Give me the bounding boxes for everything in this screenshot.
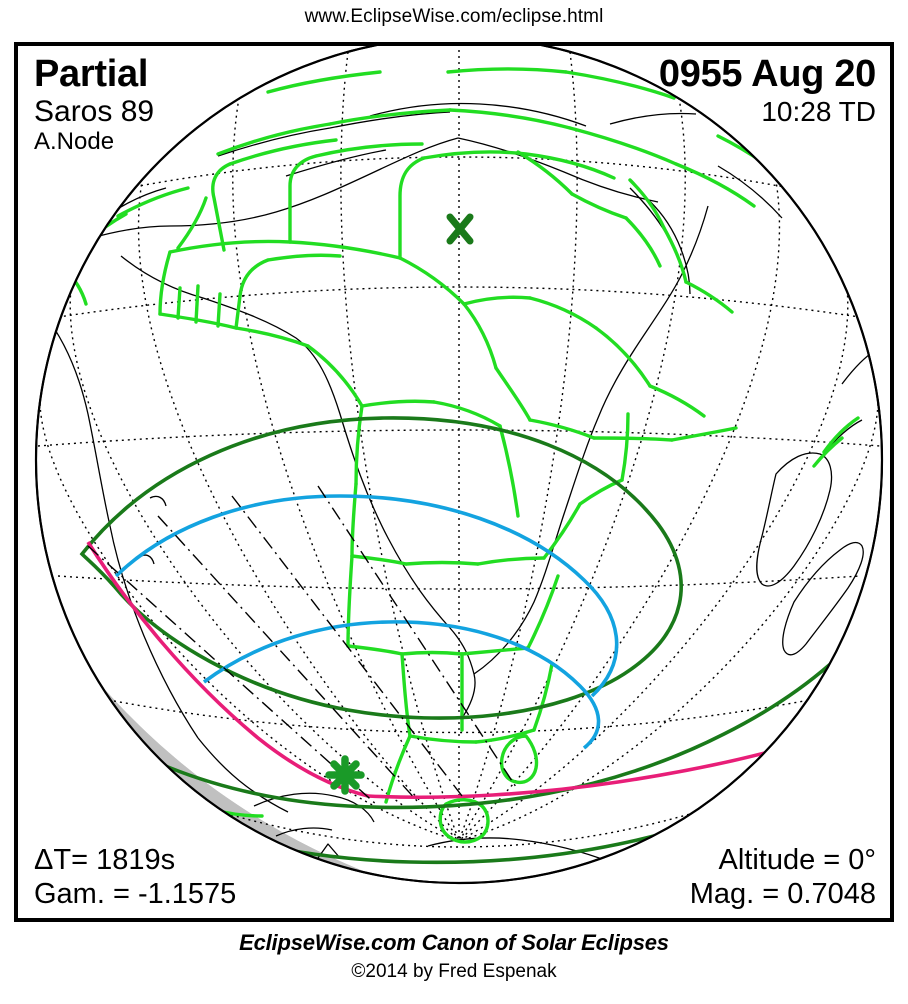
canon-title: EclipseWise.com Canon of Solar Eclipses [0,930,908,956]
delta-t-value: ΔT= 1819s [34,845,236,876]
saros-label: Saros 89 [34,96,154,128]
altitude-value: Altitude = 0° [690,845,876,876]
eclipse-type-label: Partial [34,54,154,95]
bottom-right-info: Altitude = 0° Mag. = 0.7048 [690,845,876,910]
bottom-left-info: ΔT= 1819s Gam. = -1.1575 [34,845,236,910]
node-label: A.Node [34,129,154,155]
eclipse-date-label: 0955 Aug 20 [659,54,876,95]
copyright-credit: ©2014 by Fred Espenak [0,961,908,983]
eclipse-time-label: 10:28 TD [659,97,876,127]
eclipse-map-frame: Partial Saros 89 A.Node 0955 Aug 20 10:2… [14,42,894,922]
top-right-info: 0955 Aug 20 10:28 TD [659,54,876,127]
magnitude-value: Mag. = 0.7048 [690,879,876,910]
eclipse-globe-map [18,46,890,918]
greatest-eclipse-asterisk-icon [329,759,361,791]
top-left-info: Partial Saros 89 A.Node [34,54,154,155]
gamma-value: Gam. = -1.1575 [34,879,236,910]
eclipse-figure-page: www.EclipseWise.com/eclipse.html [0,0,908,1004]
source-url: www.EclipseWise.com/eclipse.html [0,6,908,28]
figure-footer: EclipseWise.com Canon of Solar Eclipses … [0,930,908,983]
